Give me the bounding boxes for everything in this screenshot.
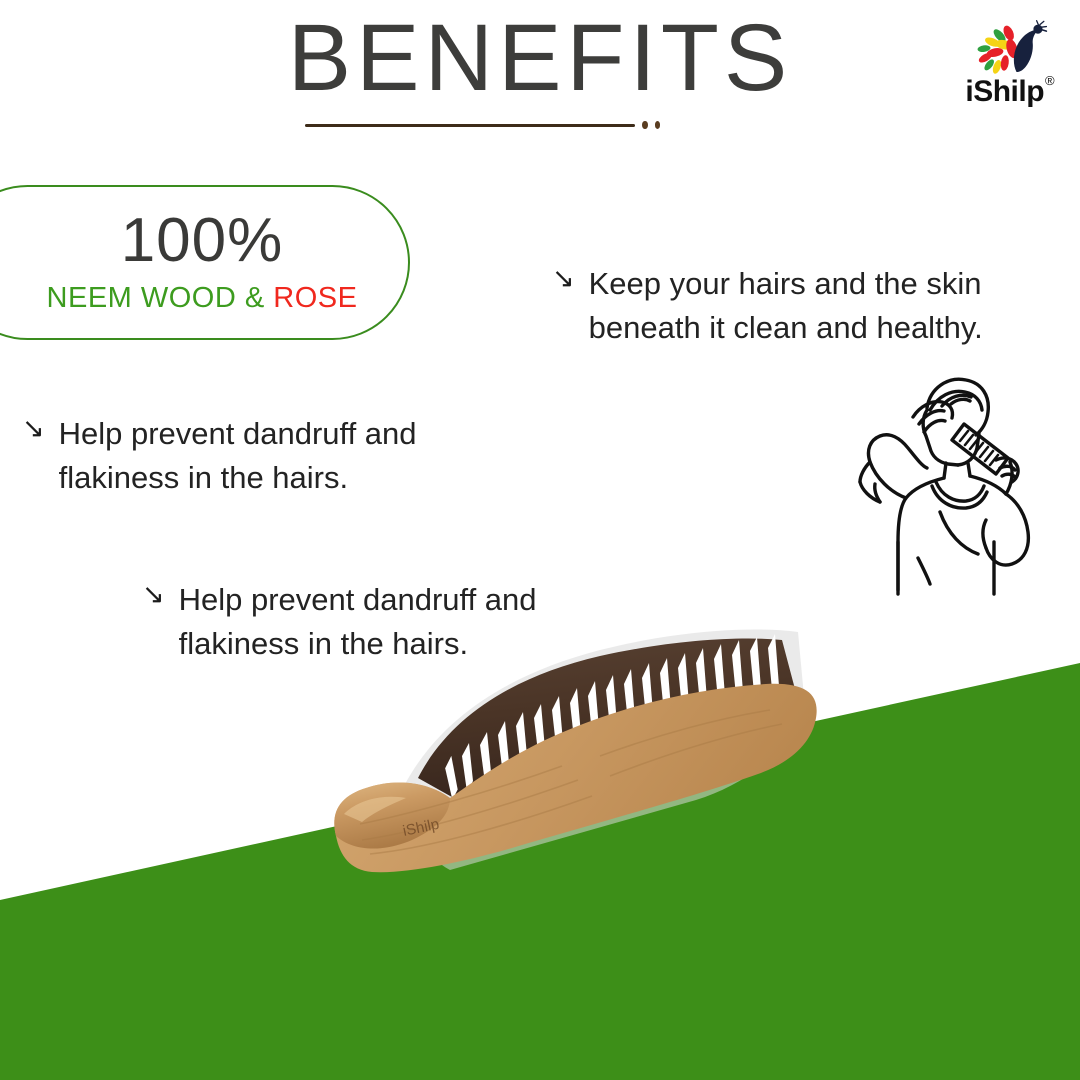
person-combing-hair-line-art	[818, 362, 1068, 600]
benefit-item-keep-clean: ↘ Keep your hairs and the skin beneath i…	[552, 262, 1052, 350]
wooden-comb-product-image: iShilp	[300, 600, 940, 900]
arrow-marker-icon: ↘	[142, 578, 165, 611]
page-title: BENEFITS	[0, 8, 1080, 109]
arrow-marker-icon: ↘	[22, 412, 45, 445]
logo-wordmark: iShilp	[965, 77, 1044, 107]
badge-subtitle: NEEM WOOD & ROSE	[47, 282, 358, 315]
peacock-icon	[971, 20, 1049, 76]
person-combing-hair-illustration	[818, 362, 1068, 600]
registered-trademark-icon: ®	[1045, 74, 1055, 87]
benefit-text: Keep your hairs and the skin beneath it …	[589, 262, 1052, 350]
benefit-item-dandruff-one: ↘ Help prevent dandruff and flakiness in…	[22, 412, 522, 500]
wooden-comb-graphic: iShilp	[300, 600, 940, 900]
arrow-marker-icon: ↘	[552, 262, 575, 295]
badge-material-label: NEEM WOOD &	[47, 282, 265, 314]
badge-percent: 100%	[121, 210, 284, 272]
title-rule-dot-1	[642, 121, 648, 129]
benefit-text: Help prevent dandruff and flakiness in t…	[59, 412, 522, 500]
infographic-canvas: BENEFITS	[0, 0, 1080, 1080]
title-rule-dot-2	[655, 121, 661, 129]
title-divider	[305, 119, 660, 131]
material-badge: 100% NEEM WOOD & ROSE	[0, 185, 410, 340]
title-rule-line	[305, 124, 635, 127]
badge-scent-label: ROSE	[273, 282, 357, 314]
brand-logo: iShilp ®	[956, 14, 1064, 122]
